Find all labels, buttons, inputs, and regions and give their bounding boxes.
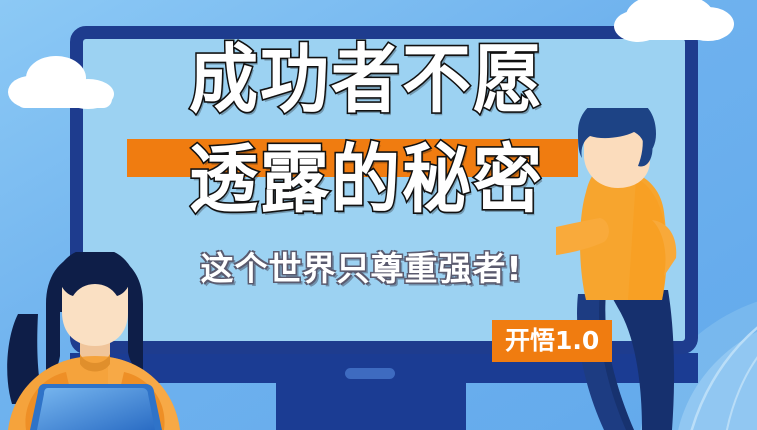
- monitor-stand: [276, 383, 466, 430]
- version-badge: 开悟1.0: [492, 320, 612, 362]
- poster-canvas: 成功者不愿 透露的秘密 这个世界只尊重强者! 开悟1.0: [0, 0, 757, 430]
- monitor-screen: [70, 26, 698, 354]
- monitor-power-indicator: [345, 368, 395, 379]
